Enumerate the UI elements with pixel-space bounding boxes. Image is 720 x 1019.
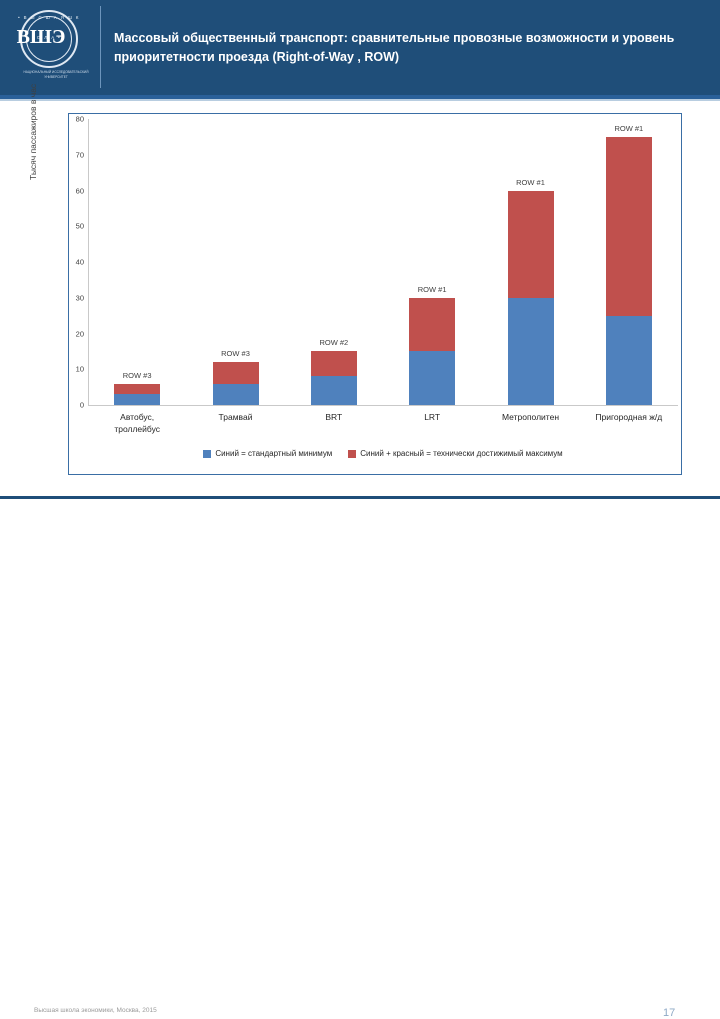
bar-segment-max	[409, 298, 455, 352]
slide-header: • В Ы С Ш А Я Ш К О Л А • ВШЭ НАЦИОНАЛЬН…	[0, 0, 720, 95]
bar-segment-min	[409, 351, 455, 405]
table-row[interactable]	[508, 191, 554, 406]
logo-subtitle: НАЦИОНАЛЬНЫЙ ИССЛЕДОВАТЕЛЬСКИЙ УНИВЕРСИТ…	[12, 70, 100, 79]
x-tick-label: Автобус,троллейбус	[88, 411, 186, 435]
page-title: Массовый общественный транспорт: сравнит…	[114, 29, 704, 67]
bar-annotation: ROW #3	[196, 349, 276, 358]
x-tick-label: LRT	[383, 411, 481, 423]
x-tick-label: BRT	[285, 411, 383, 423]
bar-segment-min	[114, 394, 160, 405]
legend-label: Синий = стандартный минимум	[215, 449, 332, 458]
legend-label: Синий + красный = технически достижимый …	[360, 449, 562, 458]
table-row[interactable]	[606, 137, 652, 405]
x-tick-label: Трамвай	[186, 411, 284, 423]
header-divider	[100, 6, 101, 88]
y-tick-label: 50	[60, 222, 84, 231]
table-row[interactable]	[311, 351, 357, 405]
bar-annotation: ROW #3	[97, 371, 177, 380]
page-number: 17	[663, 1007, 675, 1019]
bar-segment-min	[606, 316, 652, 405]
bar-segment-max	[311, 351, 357, 376]
y-tick-label: 0	[60, 401, 84, 410]
x-tick-label: Метрополитен	[481, 411, 579, 423]
y-tick-label: 10	[60, 365, 84, 374]
y-axis-label: Тысяч пассажиров в час	[28, 84, 38, 180]
legend-item[interactable]: Синий = стандартный минимум	[203, 449, 332, 458]
footer: Высшая школа экономики, Москва, 2015 17	[0, 499, 720, 540]
table-row[interactable]	[213, 362, 259, 405]
x-tick-label: Пригородная ж/д	[580, 411, 678, 423]
y-tick-label: 70	[60, 150, 84, 159]
y-tick-label: 60	[60, 186, 84, 195]
hse-logo: • В Ы С Ш А Я Ш К О Л А • ВШЭ НАЦИОНАЛЬН…	[12, 8, 88, 64]
bar-annotation: ROW #1	[491, 178, 571, 187]
bar-segment-min	[311, 376, 357, 405]
x-axis-line	[88, 405, 678, 406]
y-tick-label: 20	[60, 329, 84, 338]
y-tick-label: 40	[60, 258, 84, 267]
legend-swatch	[203, 450, 211, 458]
bar-segment-max	[606, 137, 652, 316]
bar-annotation: ROW #1	[392, 285, 472, 294]
bar-annotation: ROW #2	[294, 338, 374, 347]
bar-segment-max	[114, 384, 160, 395]
y-tick-label: 80	[60, 115, 84, 124]
table-row[interactable]	[114, 384, 160, 405]
header-logo-area: • В Ы С Ш А Я Ш К О Л А • ВШЭ НАЦИОНАЛЬН…	[0, 0, 100, 95]
footer-source: Высшая школа экономики, Москва, 2015	[34, 1007, 157, 1014]
table-row[interactable]	[409, 298, 455, 405]
y-tick-label: 30	[60, 293, 84, 302]
chart-legend: Синий = стандартный минимумСиний + красн…	[88, 449, 678, 458]
bar-segment-min	[508, 298, 554, 405]
logo-letter: ВШЭ	[12, 8, 70, 66]
bar-annotation: ROW #1	[589, 124, 669, 133]
header-rule-light	[0, 99, 720, 101]
legend-item[interactable]: Синий + красный = технически достижимый …	[348, 449, 562, 458]
bar-segment-max	[508, 191, 554, 298]
legend-swatch	[348, 450, 356, 458]
bar-segment-max	[213, 362, 259, 383]
y-axis-line	[88, 119, 89, 406]
bar-segment-min	[213, 384, 259, 405]
